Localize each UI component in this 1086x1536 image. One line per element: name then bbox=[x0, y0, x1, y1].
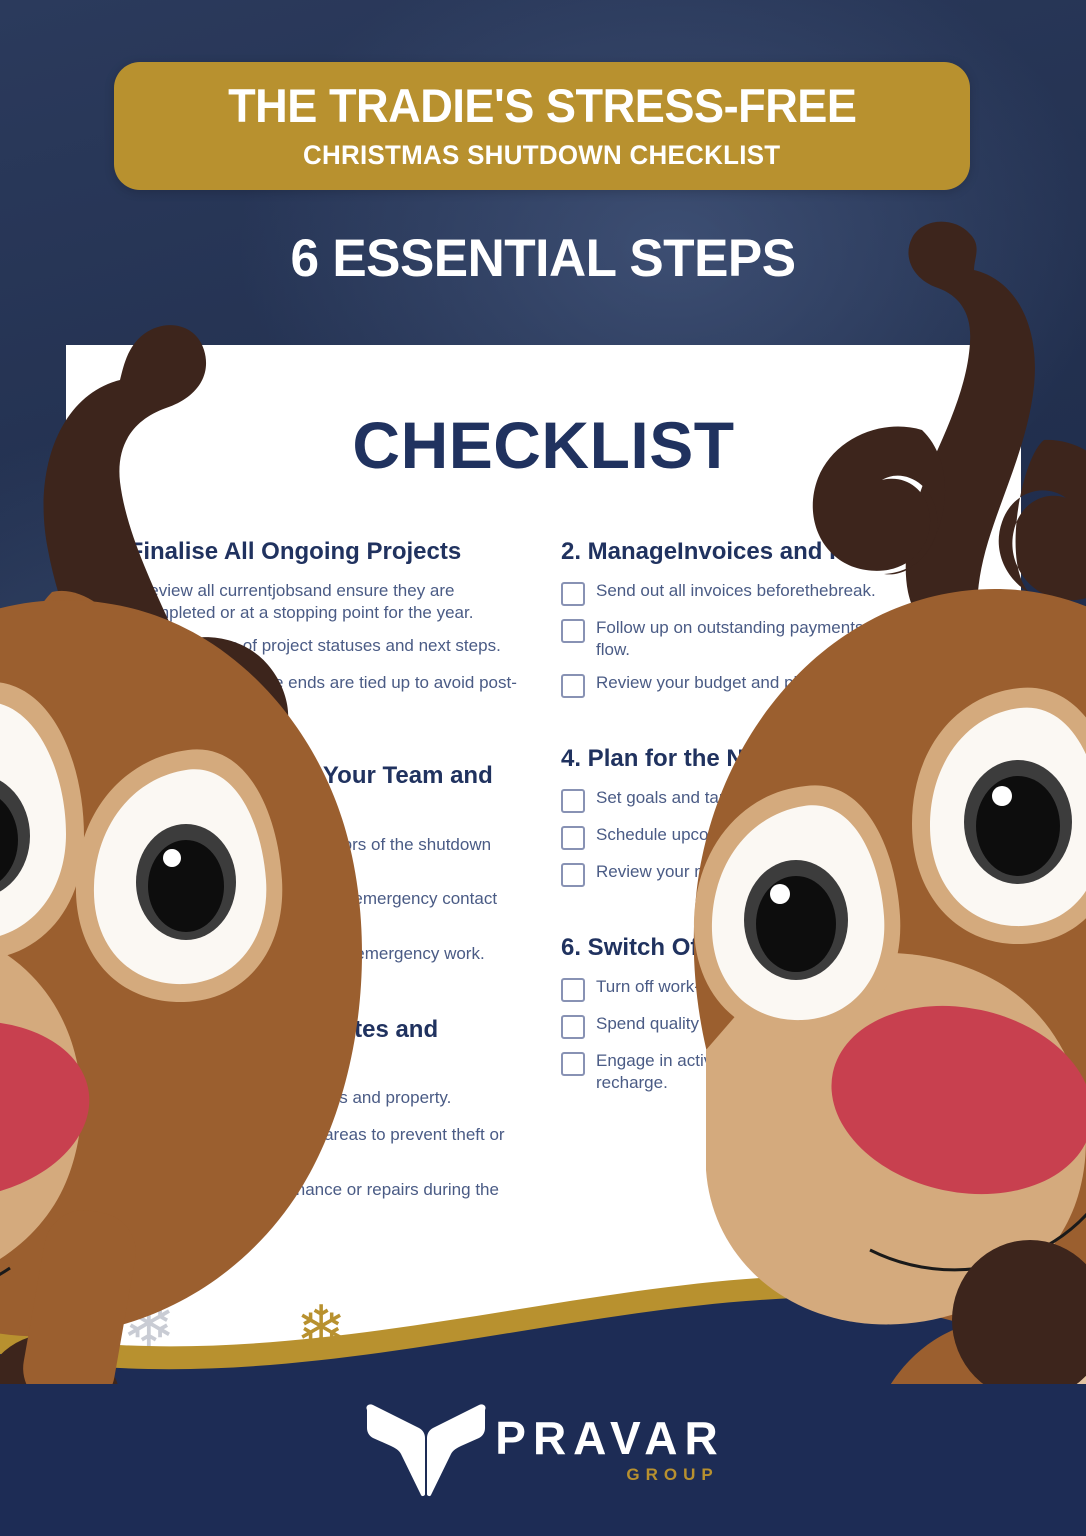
checkbox-icon[interactable] bbox=[561, 1015, 585, 1039]
checklist-card: CHECKLIST 1. Finalise All Ongoing Projec… bbox=[66, 345, 1021, 1375]
checkbox-icon[interactable] bbox=[561, 619, 585, 643]
checklist-item-label: Review your marketing and lead generatio… bbox=[596, 861, 966, 883]
checklist-block: 3. Communicate to Your Team and Clients … bbox=[102, 761, 533, 969]
checklist-item[interactable]: Engage in activities that help you relax… bbox=[561, 1050, 992, 1094]
checklist-item-label: Review your budget and plan for the new … bbox=[596, 672, 947, 694]
checklist-item-label: Make sure all loose ends are tied up to … bbox=[137, 672, 533, 716]
checklist-column-left: 1. Finalise All Ongoing Projects Review … bbox=[102, 537, 533, 1268]
checklist-item[interactable]: Review your marketing and lead generatio… bbox=[561, 861, 992, 887]
block-heading: 6. Switch Off and Enjoy Your Break bbox=[561, 933, 992, 962]
footer-bar: PRAVAR GROUP bbox=[0, 1384, 1086, 1536]
checklist-block: 4. Plan for the New Year Set goals and t… bbox=[561, 744, 992, 887]
checkbox-icon[interactable] bbox=[102, 890, 126, 914]
checklist-item-label: Arrange cover for necessary emergency wo… bbox=[137, 943, 485, 965]
checklist-item-label: Inform clients of project statuses and n… bbox=[137, 635, 501, 657]
banner-title-line2: CHRISTMAS SHUTDOWN CHECKLIST bbox=[303, 140, 780, 171]
checklist-item[interactable]: Send out all invoices beforethebreak. bbox=[561, 580, 992, 606]
checkbox-icon[interactable] bbox=[102, 1126, 126, 1150]
block-heading: 3. Communicate to Your Team and Clients bbox=[102, 761, 533, 820]
checklist-item-label: Turn off work-related notifications. bbox=[596, 976, 851, 998]
checkbox-icon[interactable] bbox=[102, 1181, 126, 1205]
checklist-item-label: Review all currentjobsand ensure they ar… bbox=[137, 580, 533, 624]
checklist-item-label: Spend quality time with family and frien… bbox=[596, 1013, 914, 1035]
checklist-item[interactable]: Arrange cover for necessary emergency wo… bbox=[102, 943, 533, 969]
checklist-item[interactable]: Set goals and targets for the coming yea… bbox=[561, 787, 992, 813]
checklist-item-label: Send out a client notice with emergency … bbox=[137, 888, 533, 932]
checkbox-icon[interactable] bbox=[102, 582, 126, 606]
block-heading: 2. ManageInvoices and Finances bbox=[561, 537, 992, 566]
checklist-item[interactable]: Send out a client notice with emergency … bbox=[102, 888, 533, 932]
checkbox-icon[interactable] bbox=[102, 945, 126, 969]
checklist-column-right: 2. ManageInvoices and Finances Send out … bbox=[561, 537, 992, 1268]
checklist-item[interactable]: Follow up on outstanding payments to mai… bbox=[561, 617, 992, 661]
checklist-item-label: Send out all invoices beforethebreak. bbox=[596, 580, 876, 602]
checklist-item[interactable]: Turn off work-related notifications. bbox=[561, 976, 992, 1002]
title-banner: THE TRADIE'S STRESS-FREE CHRISTMAS SHUTD… bbox=[114, 62, 970, 190]
checklist-item[interactable]: Review all currentjobsand ensure they ar… bbox=[102, 580, 533, 624]
checklist-item-label: Check sites and storage areas to prevent… bbox=[137, 1124, 533, 1168]
checkbox-icon[interactable] bbox=[561, 582, 585, 606]
checkbox-icon[interactable] bbox=[102, 1089, 126, 1113]
checklist-block: 5. Secure Your Worksites and Equipment L… bbox=[102, 1015, 533, 1223]
brand-text: PRAVAR GROUP bbox=[495, 1415, 724, 1485]
block-heading: 5. Secure Your Worksites and Equipment bbox=[102, 1015, 533, 1074]
checkbox-icon[interactable] bbox=[561, 826, 585, 850]
checklist-item[interactable]: Make sure all loose ends are tied up to … bbox=[102, 672, 533, 716]
checklist-item-label: Follow up on outstanding payments to mai… bbox=[596, 617, 992, 661]
checklist-item[interactable]: Check sites and storage areas to prevent… bbox=[102, 1124, 533, 1168]
checklist-item-label: Notify staff and subcontractors of the s… bbox=[137, 834, 533, 878]
checklist-item[interactable]: Schedule upcoming jobs and bookings. bbox=[561, 824, 992, 850]
checkbox-icon[interactable] bbox=[102, 674, 126, 698]
banner-title-line1: THE TRADIE'S STRESS-FREE bbox=[228, 82, 856, 129]
block-heading: 4. Plan for the New Year bbox=[561, 744, 992, 773]
brand-logo: PRAVAR GROUP bbox=[0, 1402, 1086, 1498]
checkbox-icon[interactable] bbox=[561, 674, 585, 698]
checklist-item[interactable]: Review your budget and plan for the new … bbox=[561, 672, 992, 698]
checklist-item-label: Lock up and secure all tools and propert… bbox=[137, 1087, 451, 1109]
checklist-item-label: Set goals and targets for the coming yea… bbox=[596, 787, 911, 809]
brand-name: PRAVAR bbox=[495, 1415, 724, 1461]
checklist-item[interactable]: Schedule any maintenance or repairs duri… bbox=[102, 1179, 533, 1223]
checklist-item-label: Schedule upcoming jobs and bookings. bbox=[596, 824, 892, 846]
checklist-item[interactable]: Spend quality time with family and frien… bbox=[561, 1013, 992, 1039]
checkbox-icon[interactable] bbox=[561, 1052, 585, 1076]
checkbox-icon[interactable] bbox=[561, 863, 585, 887]
checklist-item-label: Engage in activities that help you relax… bbox=[596, 1050, 992, 1094]
checklist-item-label: Schedule any maintenance or repairs duri… bbox=[137, 1179, 533, 1223]
card-title: CHECKLIST bbox=[66, 407, 1021, 483]
subtitle-essential-steps: 6 ESSENTIAL STEPS bbox=[16, 228, 1069, 289]
checklist-block: 6. Switch Off and Enjoy Your Break Turn … bbox=[561, 933, 992, 1094]
checkbox-icon[interactable] bbox=[102, 637, 126, 661]
checklist-item[interactable]: Inform clients of project statuses and n… bbox=[102, 635, 533, 661]
checklist-columns: 1. Finalise All Ongoing Projects Review … bbox=[102, 537, 992, 1268]
checklist-block: 1. Finalise All Ongoing Projects Review … bbox=[102, 537, 533, 715]
checklist-block: 2. ManageInvoices and Finances Send out … bbox=[561, 537, 992, 698]
checkbox-icon[interactable] bbox=[561, 978, 585, 1002]
brand-subtitle: GROUP bbox=[626, 1465, 718, 1485]
pravar-wings-icon bbox=[361, 1402, 491, 1498]
checklist-item[interactable]: Lock up and secure all tools and propert… bbox=[102, 1087, 533, 1113]
block-heading: 1. Finalise All Ongoing Projects bbox=[102, 537, 533, 566]
poster-canvas: THE TRADIE'S STRESS-FREE CHRISTMAS SHUTD… bbox=[0, 0, 1086, 1536]
checklist-item[interactable]: Notify staff and subcontractors of the s… bbox=[102, 834, 533, 878]
checkbox-icon[interactable] bbox=[102, 836, 126, 860]
checkbox-icon[interactable] bbox=[561, 789, 585, 813]
